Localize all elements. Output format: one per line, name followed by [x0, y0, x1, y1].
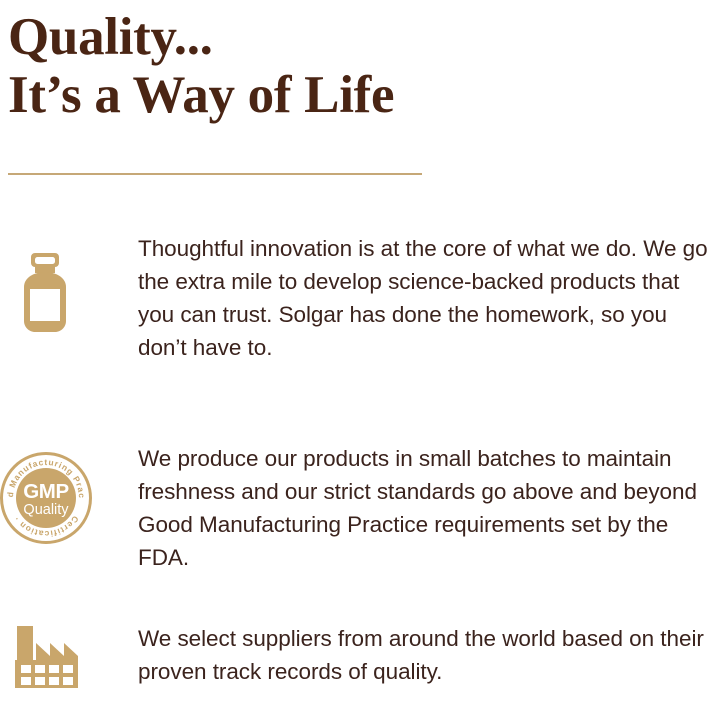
feature-text-gmp: We produce our products in small batches… [138, 442, 720, 574]
feature-text-suppliers: We select suppliers from around the worl… [138, 622, 720, 688]
feature-icon-cell [0, 622, 138, 691]
gmp-quality-seal-icon: Good Manufacturing Practice Certificatio… [0, 452, 92, 544]
page-title-line-2: It’s a Way of Life [8, 66, 708, 124]
factory-icon [14, 623, 82, 691]
page-title-line-1: Quality... [8, 8, 708, 66]
supplement-bottle-icon [14, 253, 76, 333]
feature-icon-cell: Good Manufacturing Practice Certificatio… [0, 442, 138, 544]
feature-block-innovation: Thoughtful innovation is at the core of … [0, 232, 720, 364]
page-title: Quality... It’s a Way of Life [8, 8, 708, 124]
heading-divider [8, 173, 422, 175]
gmp-seal-center-line-2: Quality [23, 502, 69, 518]
feature-text-innovation: Thoughtful innovation is at the core of … [138, 232, 720, 364]
feature-icon-cell [0, 232, 138, 333]
gmp-seal-center-line-1: GMP [23, 480, 69, 503]
feature-block-suppliers: We select suppliers from around the worl… [0, 622, 720, 691]
feature-block-gmp: Good Manufacturing Practice Certificatio… [0, 442, 720, 574]
